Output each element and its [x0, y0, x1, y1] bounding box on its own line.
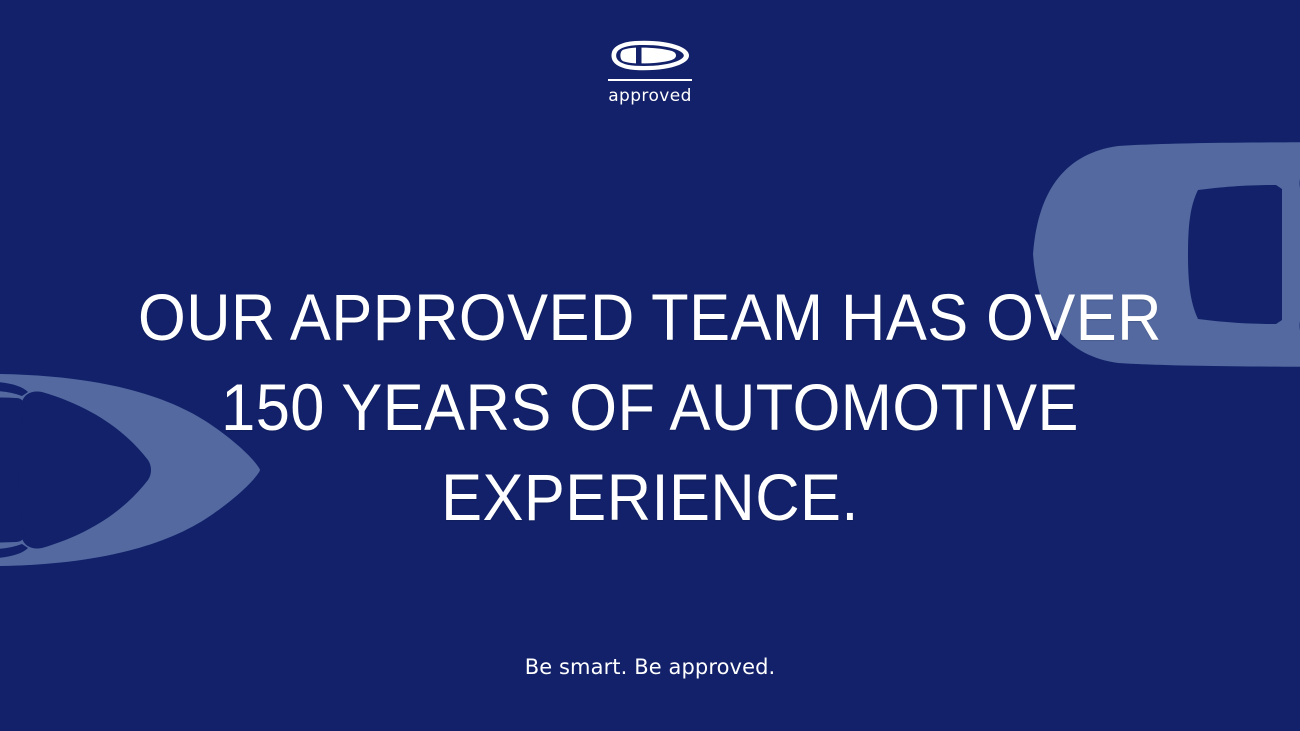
- logo-wordmark: approved: [608, 87, 692, 106]
- logo-divider: [608, 79, 692, 81]
- brand-logo: approved: [0, 40, 1300, 106]
- promo-slide: approved OUR APPROVED TEAM HAS OVER 150 …: [0, 0, 1300, 731]
- brand-tagline: Be smart. Be approved.: [0, 655, 1300, 679]
- car-top-view-icon: [611, 40, 689, 71]
- headline-line-3: EXPERIENCE.: [46, 452, 1255, 542]
- headline-line-2: 150 YEARS OF AUTOMOTIVE: [46, 362, 1255, 452]
- page-title: OUR APPROVED TEAM HAS OVER 150 YEARS OF …: [46, 272, 1255, 542]
- headline-line-1: OUR APPROVED TEAM HAS OVER: [46, 272, 1255, 362]
